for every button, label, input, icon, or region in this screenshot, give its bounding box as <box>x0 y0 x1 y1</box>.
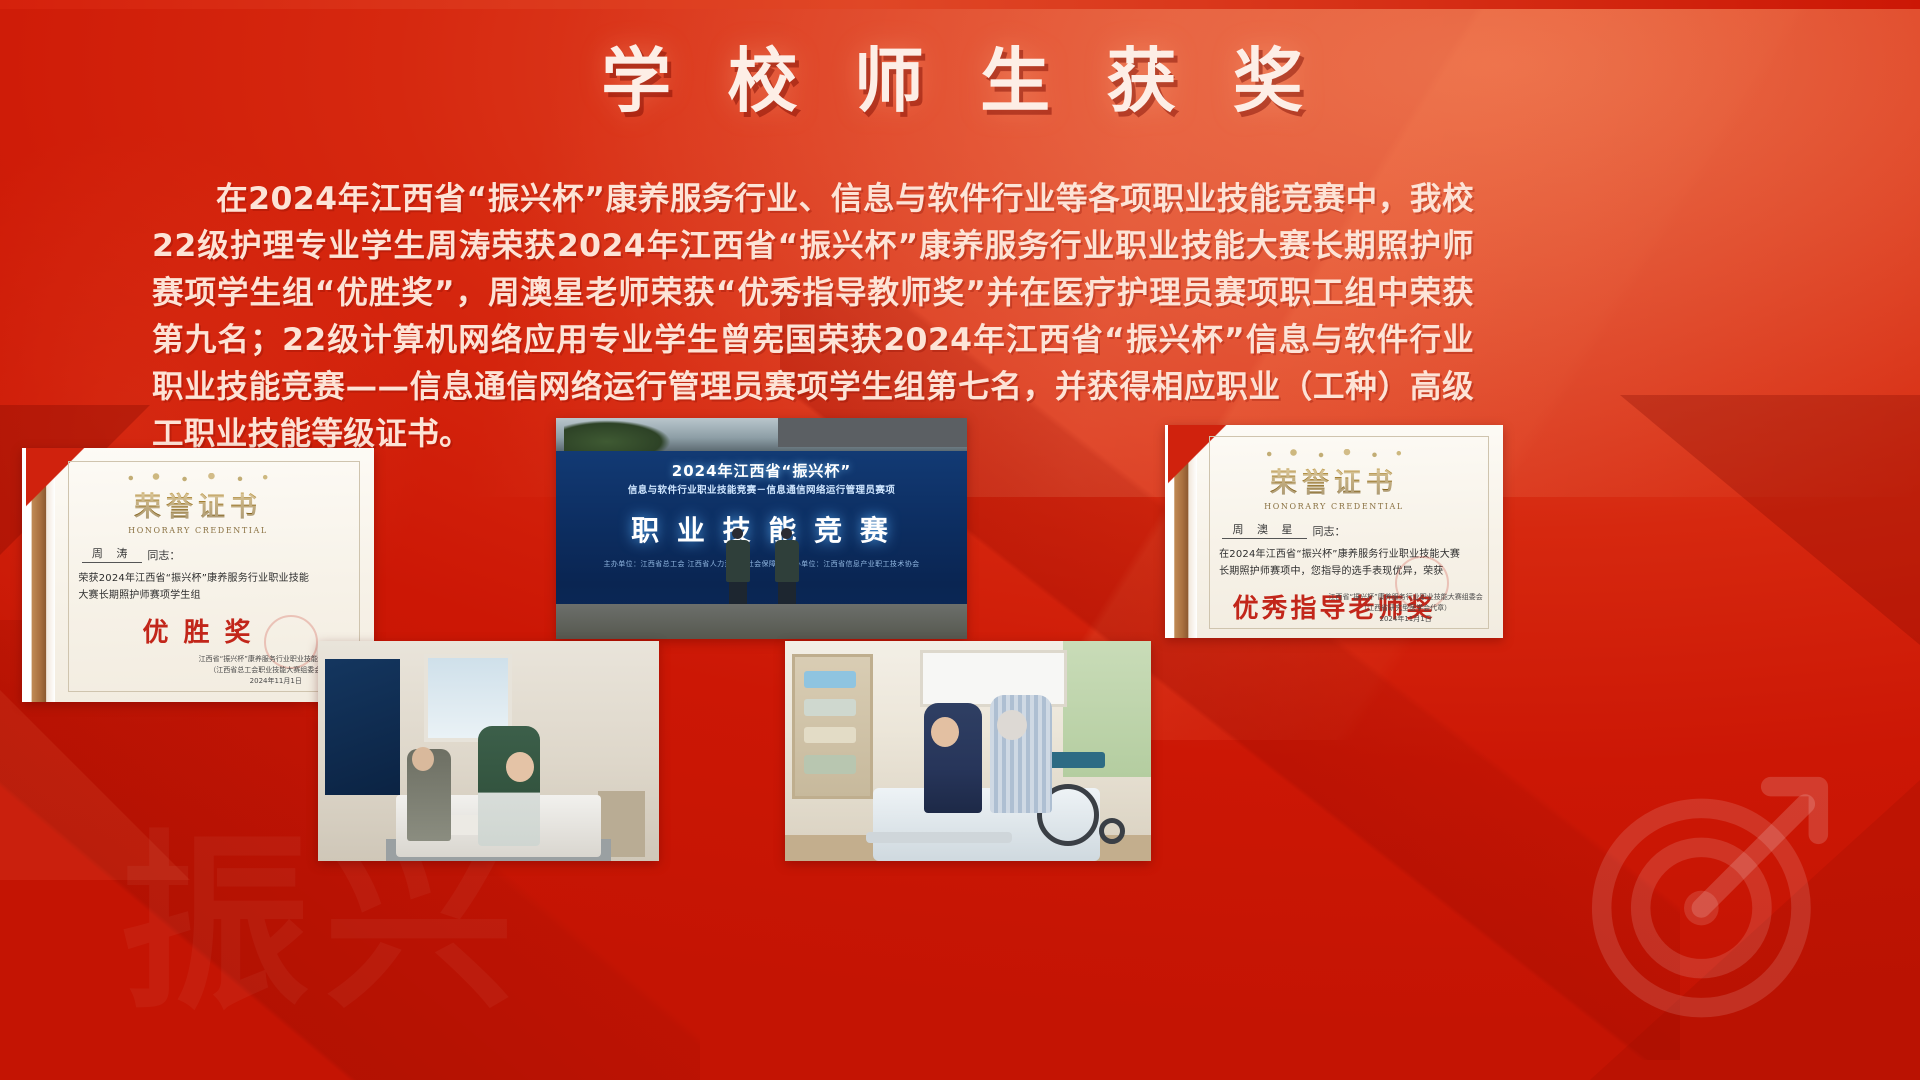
ward-caption: 长期照护师技能操作现场 <box>318 641 319 642</box>
page-title: 学 校 师 生 获 奖 <box>0 46 1920 116</box>
photo-competition-banner[interactable]: 2024年江西省“振兴杯” 信息与软件行业职业技能竞赛－信息通信网络运行管理员赛… <box>556 418 967 639</box>
banner-scene: 2024年江西省“振兴杯” 信息与软件行业职业技能竞赛－信息通信网络运行管理员赛… <box>556 418 967 639</box>
banner-tree <box>564 420 671 451</box>
banner-organizers: 主办单位：江西省总工会 江西省人力资源和社会保障厅 承办单位：江西省信息产业职工… <box>556 559 967 569</box>
ward-projection-screen <box>325 659 400 795</box>
certificate-flourish-icon <box>114 473 283 483</box>
transfer-caption: 医疗护理员轮椅转移操作 <box>785 641 786 642</box>
banner-person-left <box>725 528 751 604</box>
banner-subtitle: 信息与软件行业职业技能竞赛－信息通信网络运行管理员赛项 <box>556 482 967 496</box>
certificate-footer: 江西省“振兴杯”康养服务行业职业技能大赛组委会 （江西省研究型医学会代章） 20… <box>1328 592 1482 625</box>
transfer-bed-rail <box>866 832 1012 843</box>
banner-title: 2024年江西省“振兴杯” <box>556 460 967 481</box>
transfer-nurse-head <box>931 717 959 747</box>
certificate-card-right: 荣誉证书 HONORARY CREDENTIAL 周 澳 星 同志： 在2024… <box>1165 425 1503 638</box>
banner-person-right <box>774 528 800 604</box>
photo-certificate-right[interactable]: 荣誉证书 HONORARY CREDENTIAL 周 澳 星 同志： 在2024… <box>1165 425 1503 638</box>
certificate-flourish-icon <box>1253 449 1415 459</box>
ward-nurse <box>478 726 540 846</box>
ward-assistant-head <box>412 747 434 771</box>
target-arrow-icon <box>1580 765 1840 1025</box>
photo-ward-demonstration[interactable]: 长期照护师技能操作现场 <box>318 641 659 861</box>
banner-wall <box>778 418 967 447</box>
certificate-footer-line3: 2024年11月1日 <box>1328 614 1482 625</box>
transfer-shelf <box>792 654 873 799</box>
banner-ground <box>556 604 967 639</box>
ward-nurse-head <box>506 752 534 782</box>
certificate-footer-line2: （江西省研究型医学会代章） <box>1328 603 1482 614</box>
transfer-scene: 医疗护理员轮椅转移操作 <box>785 641 1151 861</box>
banner-headline: 职 业 技 能 竞 赛 <box>556 509 967 549</box>
certificate-footer-line1: 江西省“振兴杯”康养服务行业职业技能大赛组委会 <box>1328 592 1482 603</box>
top-band <box>0 0 1920 9</box>
ward-scene: 长期照护师技能操作现场 <box>318 641 659 861</box>
decor-triangle-right <box>1620 395 1920 645</box>
body-paragraph: 在2024年江西省“振兴杯”康养服务行业、信息与软件行业等各项职业技能竞赛中，我… <box>152 176 1474 458</box>
slide-canvas: 振兴 学 校 师 生 获 奖 在2024年江西省“振兴杯”康养服务行业、信息与软… <box>0 0 1920 1080</box>
photo-wheelchair-transfer[interactable]: 医疗护理员轮椅转移操作 <box>785 641 1151 861</box>
